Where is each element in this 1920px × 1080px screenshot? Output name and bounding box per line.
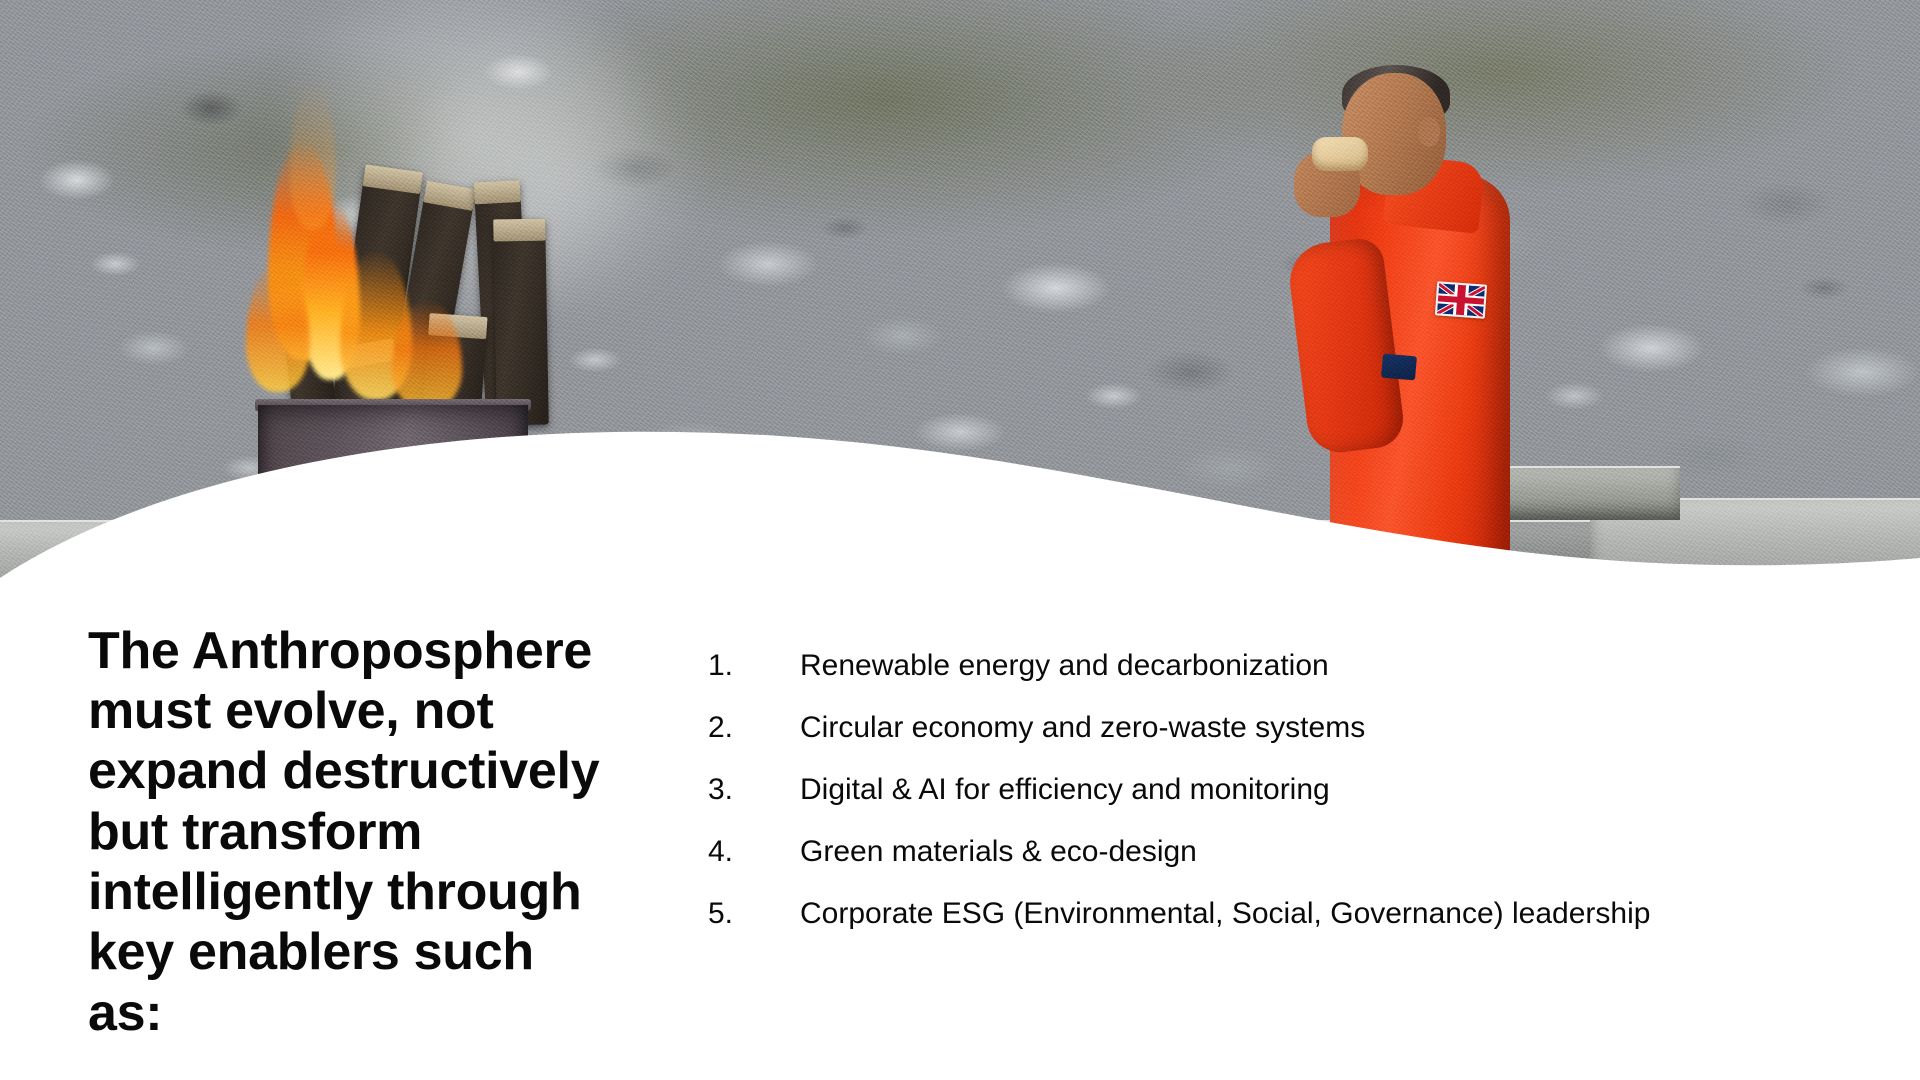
list-item: 3. Digital & AI for efficiency and monit… [708, 772, 1888, 808]
list-item: 1. Renewable energy and decarbonization [708, 648, 1888, 684]
list-item-label: Circular economy and zero-waste systems [800, 710, 1365, 746]
content-panel: The Anthroposphere must evolve, not expa… [0, 600, 1920, 1080]
curved-divider [0, 380, 1920, 620]
list-item-number: 5. [708, 897, 800, 931]
enablers-list: 1. Renewable energy and decarbonization … [668, 648, 1888, 958]
list-item-label: Corporate ESG (Environmental, Social, Go… [800, 896, 1650, 932]
list-item-number: 4. [708, 835, 800, 869]
list-item-label: Renewable energy and decarbonization [800, 648, 1329, 684]
list-item-number: 2. [708, 711, 800, 745]
list-item-label: Green materials & eco-design [800, 834, 1197, 870]
list-item-label: Digital & AI for efficiency and monitori… [800, 772, 1330, 808]
list-item: 4. Green materials & eco-design [708, 834, 1888, 870]
list-item: 2. Circular economy and zero-waste syste… [708, 710, 1888, 746]
list-item: 5. Corporate ESG (Environmental, Social,… [708, 896, 1888, 932]
slide: The Anthroposphere must evolve, not expa… [0, 0, 1920, 1080]
page-title: The Anthroposphere must evolve, not expa… [88, 621, 608, 1043]
list-item-number: 1. [708, 649, 800, 683]
list-item-number: 3. [708, 773, 800, 807]
